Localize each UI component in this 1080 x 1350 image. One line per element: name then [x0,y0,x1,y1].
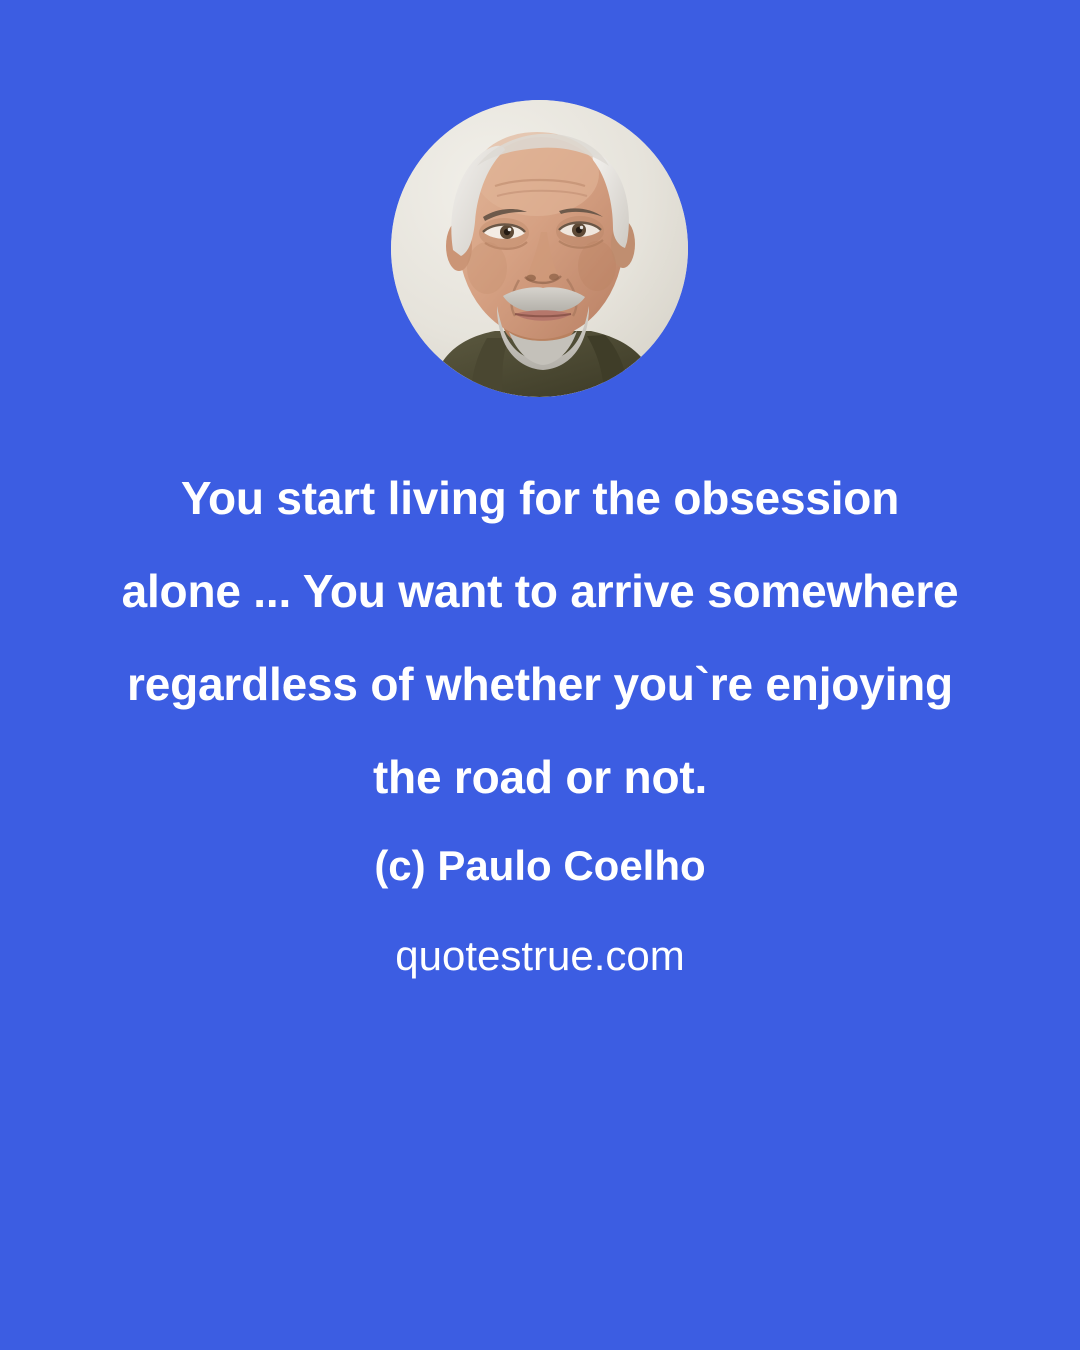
quote-line: You start living for the obsession [55,452,1025,545]
quote-line: the road or not. [55,731,1025,824]
portrait-illustration [391,100,688,397]
author-name: (c) Paulo Coelho [0,838,1080,894]
quote-text: You start living for the obsession alone… [0,452,1080,824]
quote-line: regardless of whether you`re enjoying [55,638,1025,731]
quote-line: alone ... You want to arrive somewhere [55,545,1025,638]
attribution: (c) Paulo Coelho quotestrue.com [0,838,1080,984]
quote-card: You start living for the obsession alone… [0,0,1080,1350]
author-portrait-avatar [391,100,688,397]
source-website: quotestrue.com [0,928,1080,984]
